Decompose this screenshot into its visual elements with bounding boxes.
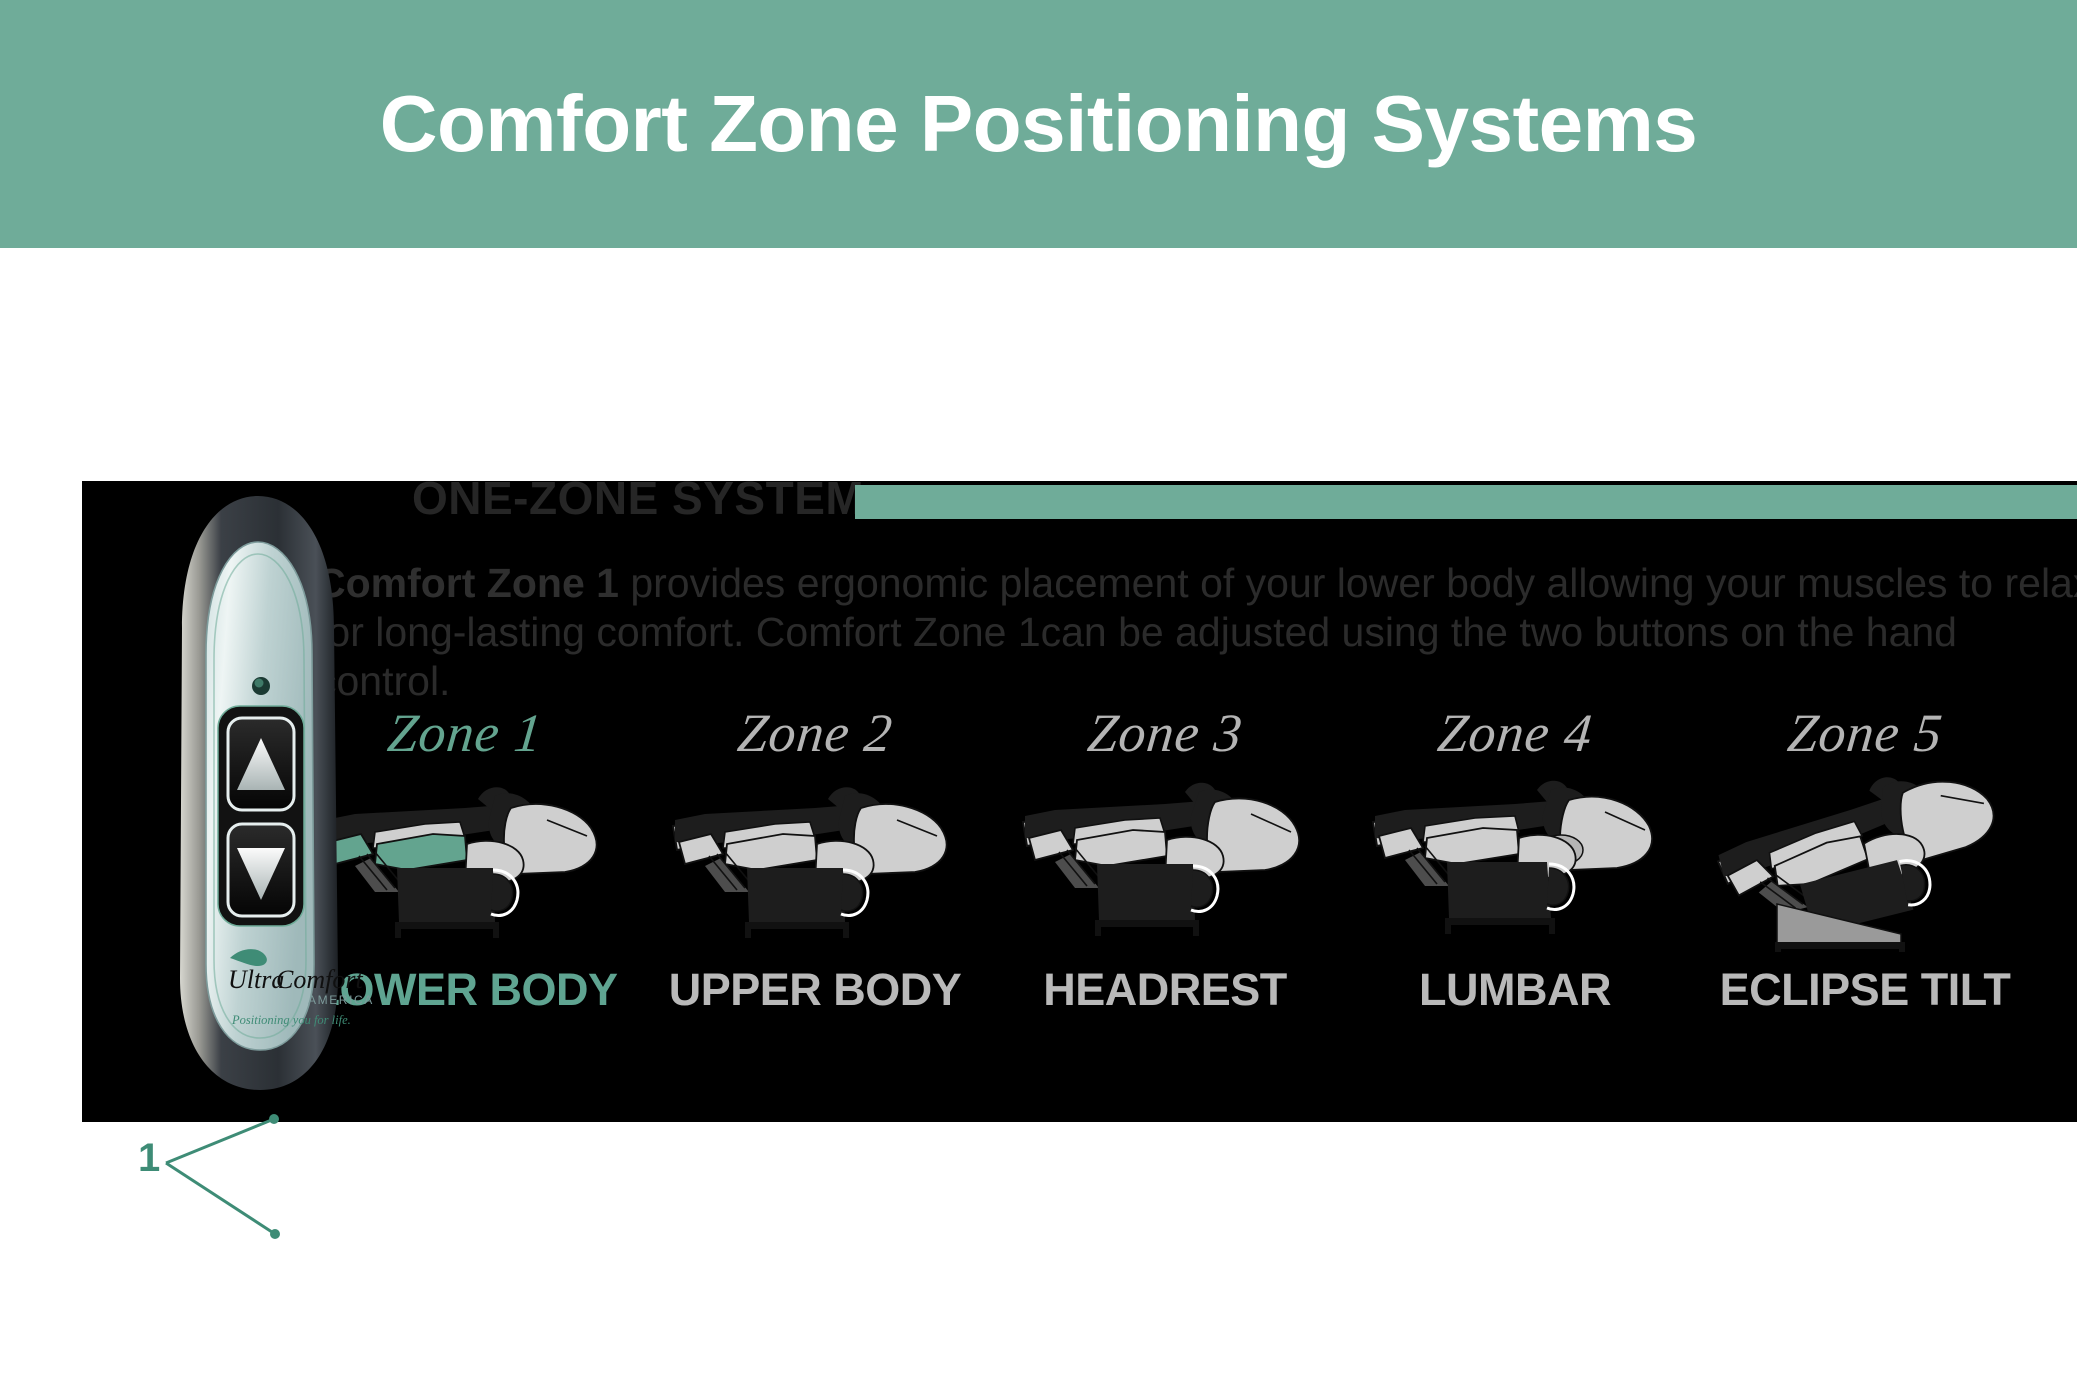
zone-chair-illustration-2 [665,764,965,954]
zone-card-2[interactable]: Zone 2 [650,706,980,1016]
up-arrow-icon [237,738,285,790]
zone-card-5[interactable]: Zone 5 [1700,706,2030,1016]
zone-card-4[interactable]: Zone 4 [1350,706,1680,1016]
section-heading: ONE-ZONE SYSTEM [412,471,864,525]
content-panel: ONE-ZONE SYSTEM Comfort Zone 1 provides … [82,481,2077,1122]
zone-title-1: Zone 1 [385,706,545,760]
zone-chair-illustration-4 [1365,764,1665,954]
slide-root: Comfort Zone Positioning Systems ONE-ZON… [0,0,2077,1385]
zone-title-5: Zone 5 [1785,706,1945,760]
zone-label-1: LOWER BODY [313,964,618,1016]
down-button [228,824,294,916]
body-paragraph: Comfort Zone 1 provides ergonomic placem… [316,559,2077,706]
zone-title-4: Zone 4 [1435,706,1595,760]
brand-ultra: Ultra [228,965,284,994]
zones-row: Zone 1 [300,706,2030,1106]
page-title: Comfort Zone Positioning Systems [380,84,1697,164]
callout-number-1: 1 [138,1136,160,1181]
zone-chair-illustration-5 [1715,764,2015,954]
zone-label-5: ECLIPSE TILT [1720,964,2011,1016]
header-banner: Comfort Zone Positioning Systems [0,0,2077,248]
zone-label-3: HEADREST [1043,964,1287,1016]
section-rule [855,485,2077,519]
body-lead: Comfort Zone 1 [316,560,619,606]
zone-label-4: LUMBAR [1419,964,1611,1016]
zone-card-3[interactable]: Zone 3 [1000,706,1330,1016]
zone-label-2: UPPER BODY [669,964,962,1016]
zone-title-2: Zone 2 [735,706,895,760]
zone-title-3: Zone 3 [1085,706,1245,760]
down-arrow-icon [237,848,285,900]
led-indicator [252,677,270,695]
zone-card-1[interactable]: Zone 1 [300,706,630,1016]
up-button [228,718,294,810]
zone-chair-illustration-1 [315,764,615,954]
zone-chair-illustration-3 [1015,764,1315,954]
